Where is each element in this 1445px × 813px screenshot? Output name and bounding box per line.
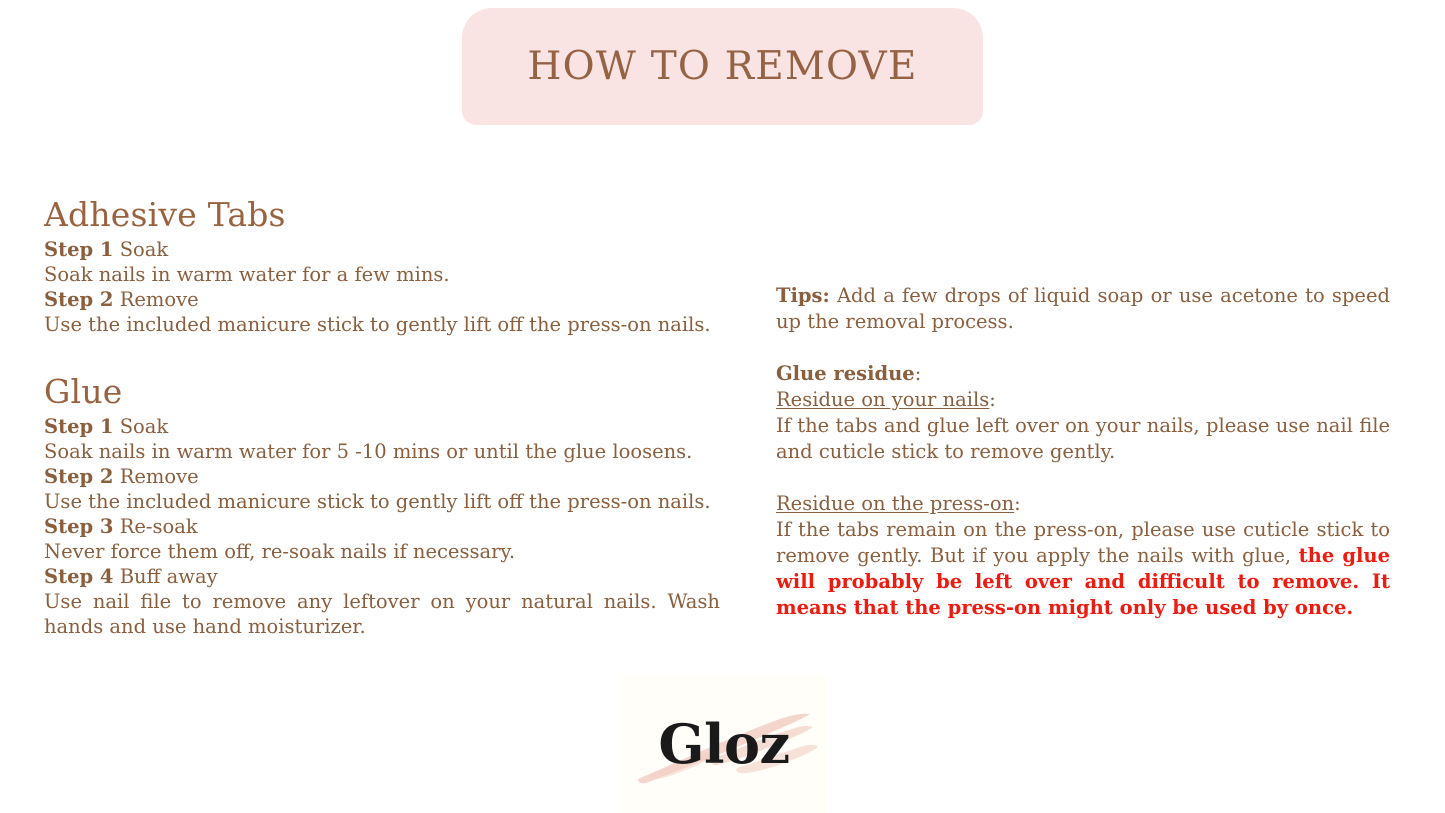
step-title: Remove [120,465,199,488]
glue-residue-label: Glue residue [776,362,915,385]
step-title: Buff away [120,565,218,588]
step-body: Use the included manicure stick to gentl… [44,489,720,514]
step-label: Step 1 [44,415,114,438]
section-heading-adhesive-tabs: Adhesive Tabs [44,196,720,235]
tips-text: Add a few drops of liquid soap or use ac… [776,284,1390,333]
step-label: Step 1 [44,238,114,261]
glue-residue-heading: Glue residue: [776,361,1390,387]
step-body: Soak nails in warm water for 5 -10 mins … [44,439,720,464]
brand-logo: Gloz [620,675,828,813]
step-label: Step 2 [44,465,114,488]
residue-presson-title: Residue on the press-on [776,492,1014,515]
step-title: Re-soak [120,515,198,538]
step-label: Step 4 [44,565,114,588]
left-column: Adhesive Tabs Step 1 Soak Soak nails in … [44,196,720,639]
residue-presson-text: If the tabs remain on the press-on, plea… [776,517,1390,621]
step-label: Step 3 [44,515,114,538]
right-column: Tips: Add a few drops of liquid soap or … [776,283,1390,621]
step-label: Step 2 [44,288,114,311]
residue-nails-title: Residue on your nails [776,388,989,411]
residue-nails-colon: : [989,388,996,411]
glue-residue-colon: : [915,362,922,385]
step-title: Remove [120,288,199,311]
step-body: Soak nails in warm water for a few mins. [44,262,720,287]
step-body: Use nail file to remove any leftover on … [44,589,720,639]
step-body: Never force them off, re-soak nails if n… [44,539,720,564]
residue-presson-heading: Residue on the press-on: [776,491,1390,517]
content-area: Adhesive Tabs Step 1 Soak Soak nails in … [0,0,1445,813]
step-line: Step 1 Soak [44,414,720,439]
section-heading-glue: Glue [44,373,720,412]
tips-paragraph: Tips: Add a few drops of liquid soap or … [776,283,1390,335]
step-body: Use the included manicure stick to gentl… [44,312,720,337]
step-line: Step 2 Remove [44,464,720,489]
tips-label: Tips: [776,284,830,307]
logo-wordmark: Gloz [620,675,828,813]
step-line: Step 2 Remove [44,287,720,312]
residue-nails-text: If the tabs and glue left over on your n… [776,413,1390,465]
residue-nails-heading: Residue on your nails: [776,387,1390,413]
step-line: Step 1 Soak [44,237,720,262]
step-title: Soak [120,415,169,438]
step-line: Step 4 Buff away [44,564,720,589]
step-line: Step 3 Re-soak [44,514,720,539]
residue-presson-colon: : [1014,492,1021,515]
step-title: Soak [120,238,169,261]
